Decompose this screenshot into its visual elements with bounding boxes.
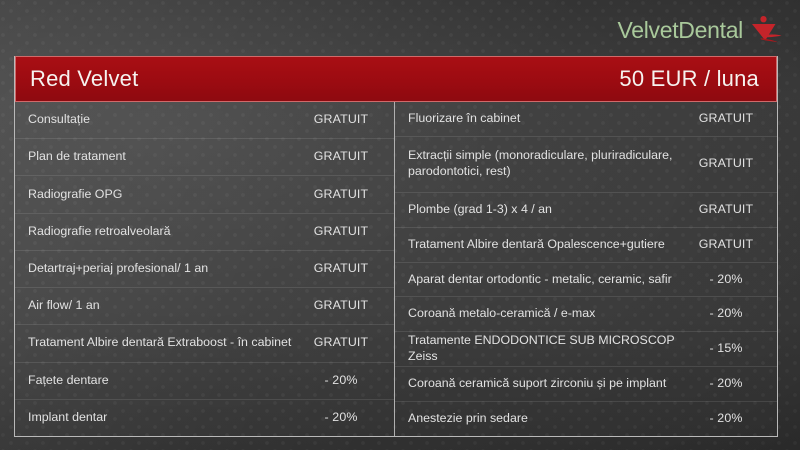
- service-name: Tratamente ENDODONTICE SUB MICROSCOP Zei…: [408, 333, 689, 365]
- service-name: Radiografie OPG: [28, 187, 302, 203]
- service-name: Anestezie prin sedare: [408, 411, 689, 427]
- table-row: Aparat dentar ortodontic - metalic, cera…: [395, 263, 777, 298]
- table-row: Plan de tratament GRATUIT: [15, 139, 394, 176]
- service-value: - 20%: [689, 272, 763, 288]
- service-value: GRATUIT: [302, 335, 380, 351]
- table-row: Plombe (grad 1-3) x 4 / an GRATUIT: [395, 193, 777, 228]
- service-value: GRATUIT: [302, 224, 380, 240]
- pricing-table-body: Consultație GRATUIT Plan de tratament GR…: [15, 102, 777, 436]
- service-name: Coroană ceramică suport zirconiu și pe i…: [408, 376, 689, 392]
- table-row: Coroană metalo-ceramică / e-max - 20%: [395, 297, 777, 332]
- service-name: Extracții simple (monoradiculare, plurir…: [408, 148, 689, 180]
- brand-logo-text: VelvetDental: [617, 19, 743, 42]
- service-name: Plombe (grad 1-3) x 4 / an: [408, 202, 689, 218]
- service-name: Consultație: [28, 112, 302, 128]
- service-value: - 20%: [689, 306, 763, 322]
- table-row: Consultație GRATUIT: [15, 102, 394, 139]
- service-value: GRATUIT: [302, 149, 380, 165]
- service-value: - 20%: [302, 410, 380, 426]
- table-row: Tratament Albire dentară Opalescence+gut…: [395, 228, 777, 263]
- service-name: Tratament Albire dentară Extraboost - în…: [28, 335, 302, 351]
- service-value: - 20%: [302, 373, 380, 389]
- service-name: Detartraj+periaj profesional/ 1 an: [28, 261, 302, 277]
- table-row: Tratament Albire dentară Extraboost - în…: [15, 325, 394, 362]
- table-row: Implant dentar - 20%: [15, 400, 394, 436]
- service-name: Fluorizare în cabinet: [408, 111, 689, 127]
- velvet-dental-figure-icon: [748, 14, 782, 46]
- table-row: Radiografie retroalveolară GRATUIT: [15, 214, 394, 251]
- table-row: Extracții simple (monoradiculare, plurir…: [395, 137, 777, 193]
- service-value: GRATUIT: [689, 237, 763, 253]
- table-row: Air flow/ 1 an GRATUIT: [15, 288, 394, 325]
- service-value: GRATUIT: [302, 261, 380, 277]
- services-column-left: Consultație GRATUIT Plan de tratament GR…: [15, 102, 394, 436]
- pricing-table: Red Velvet 50 EUR / luna Consultație GRA…: [14, 56, 778, 437]
- table-row: Radiografie OPG GRATUIT: [15, 176, 394, 213]
- service-value: GRATUIT: [689, 156, 763, 172]
- table-row: Fluorizare în cabinet GRATUIT: [395, 102, 777, 137]
- service-value: - 15%: [689, 341, 763, 357]
- services-column-right: Fluorizare în cabinet GRATUIT Extracții …: [394, 102, 777, 436]
- slide-canvas: VelvetDental Red Velvet 50 EUR / luna Co…: [0, 0, 800, 450]
- table-row: Anestezie prin sedare - 20%: [395, 402, 777, 436]
- service-value: GRATUIT: [689, 202, 763, 218]
- service-name: Air flow/ 1 an: [28, 298, 302, 314]
- service-name: Tratament Albire dentară Opalescence+gut…: [408, 237, 689, 253]
- table-row: Coroană ceramică suport zirconiu și pe i…: [395, 367, 777, 402]
- brand-logo: VelvetDental: [617, 14, 782, 46]
- table-row: Fațete dentare - 20%: [15, 363, 394, 400]
- table-row: Tratamente ENDODONTICE SUB MICROSCOP Zei…: [395, 332, 777, 367]
- service-name: Implant dentar: [28, 410, 302, 426]
- service-name: Fațete dentare: [28, 373, 302, 389]
- service-value: GRATUIT: [302, 112, 380, 128]
- table-row: Detartraj+periaj profesional/ 1 an GRATU…: [15, 251, 394, 288]
- service-name: Plan de tratament: [28, 149, 302, 165]
- service-value: GRATUIT: [689, 111, 763, 127]
- service-value: GRATUIT: [302, 298, 380, 314]
- service-name: Coroană metalo-ceramică / e-max: [408, 306, 689, 322]
- service-name: Radiografie retroalveolară: [28, 224, 302, 240]
- service-value: GRATUIT: [302, 187, 380, 203]
- plan-name: Red Velvet: [30, 68, 138, 90]
- service-value: - 20%: [689, 411, 763, 427]
- plan-price: 50 EUR / luna: [619, 68, 759, 90]
- service-value: - 20%: [689, 376, 763, 392]
- plan-header-bar: Red Velvet 50 EUR / luna: [15, 56, 777, 102]
- service-name: Aparat dentar ortodontic - metalic, cera…: [408, 272, 689, 288]
